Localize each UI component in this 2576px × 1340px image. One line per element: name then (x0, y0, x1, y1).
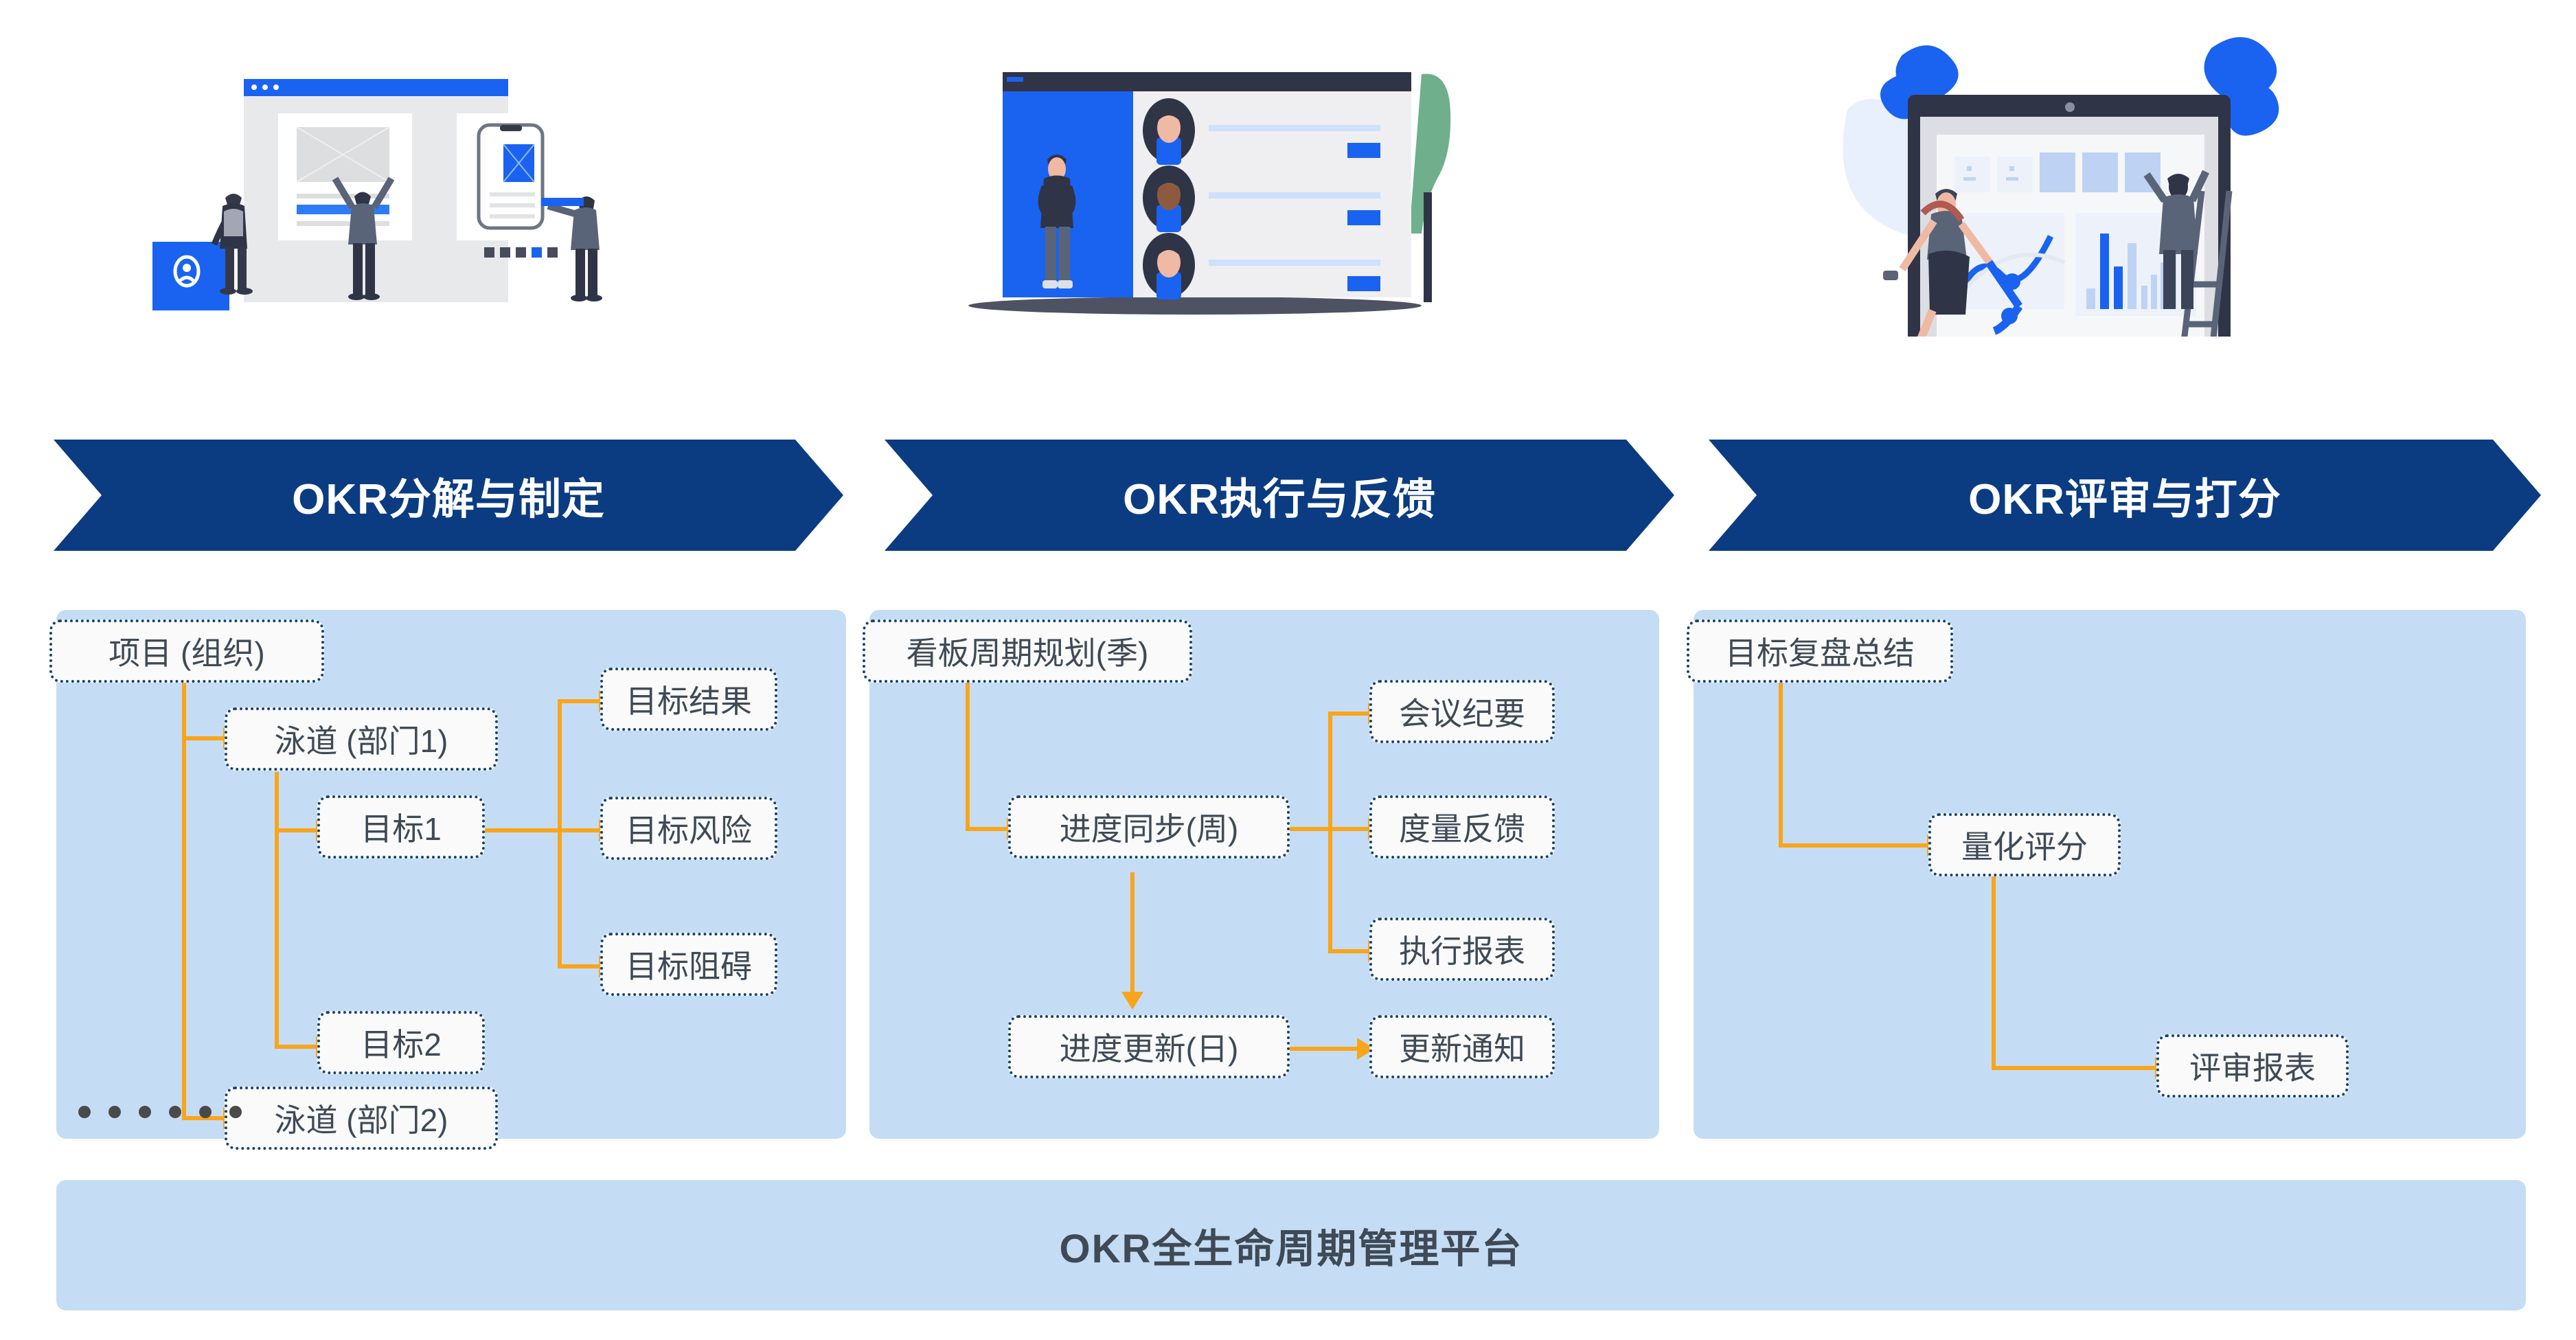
connector-trunk-to-metrics (1328, 827, 1371, 831)
connector-project-trunk (182, 681, 186, 1118)
node-progress-update[interactable]: 进度更新(日) (1008, 1015, 1290, 1078)
connector-trunk-to-result (558, 699, 600, 703)
node-kanban-plan-label: 看板周期规划(季) (907, 628, 1149, 674)
node-goal-1[interactable]: 目标1 (317, 795, 485, 859)
node-goal-2[interactable]: 目标2 (317, 1011, 485, 1074)
connector-score-trunk (1992, 876, 1996, 1070)
connector-update-to-notice (1288, 1047, 1360, 1051)
stage-banner-2[interactable]: OKR执行与反馈 (885, 440, 1674, 551)
node-quantified-score-label: 量化评分 (1961, 822, 2088, 867)
stage-panel-2: 看板周期规划(季) 进度同步(周) 进度更新(日) 会议纪要 度量反馈 执行报表… (869, 610, 1659, 1139)
stage-banner-3-label: OKR评审与打分 (1968, 464, 2281, 526)
node-goal-blocker-label: 目标阻碍 (626, 942, 752, 987)
node-review-report-label: 评审报表 (2189, 1043, 2316, 1089)
node-progress-update-label: 进度更新(日) (1060, 1024, 1239, 1069)
connector-review-trunk (1779, 681, 1783, 846)
connector-goal1-to-trunk (483, 828, 560, 832)
connector-trunk-to-minutes (1328, 712, 1371, 716)
stage-banner-3[interactable]: OKR评审与打分 (1709, 440, 2541, 551)
node-meeting-minutes[interactable]: 会议纪要 (1369, 680, 1555, 743)
node-update-notice-label: 更新通知 (1399, 1024, 1525, 1069)
analytics-monitor-illustration (1820, 7, 2410, 337)
connector-sync-to-update (1130, 872, 1135, 995)
connector-output-trunk (558, 699, 562, 968)
node-goal-1-label: 目标1 (361, 804, 442, 850)
node-goal-result[interactable]: 目标结果 (600, 668, 777, 731)
node-goal-risk-label: 目标风险 (626, 806, 752, 851)
node-goal-risk[interactable]: 目标风险 (600, 797, 777, 860)
diagram-canvas: OKR分解与制定 OKR执行与反馈 OKR评审与打分 项目 (组织) (0, 0, 2576, 1340)
node-goal-blocker[interactable]: 目标阻碍 (600, 933, 777, 996)
platform-footer-bar: OKR全生命周期管理平台 (56, 1180, 2526, 1310)
node-goal-2-label: 目标2 (361, 1020, 442, 1065)
arrow-sync-to-update (1121, 992, 1143, 1010)
stage-banner-1-label: OKR分解与制定 (292, 464, 605, 526)
team-list-dashboard-illustration (927, 34, 1477, 350)
connector-project-to-swimlane1 (182, 736, 225, 740)
connector-sync-to-trunk (1288, 827, 1331, 831)
node-execution-report[interactable]: 执行报表 (1369, 918, 1555, 981)
connector-trunk-to-report (1328, 949, 1371, 953)
node-project-label: 项目 (组织) (109, 628, 264, 674)
node-kanban-plan[interactable]: 看板周期规划(季) (863, 620, 1192, 683)
connector-swimlane1-trunk (275, 772, 279, 1047)
connector-kanban-to-sync (966, 827, 1008, 831)
connector-trunk-to-block (558, 964, 600, 968)
node-meeting-minutes-label: 会议纪要 (1399, 689, 1525, 734)
node-quantified-score[interactable]: 量化评分 (1928, 813, 2121, 876)
node-swimlane-1[interactable]: 泳道 (部门1) (225, 707, 498, 771)
stage-panel-3: 目标复盘总结 量化评分 评审报表 (1694, 610, 2526, 1139)
node-swimlane-1-label: 泳道 (部门1) (275, 716, 448, 762)
node-metric-feedback-label: 度量反馈 (1399, 804, 1525, 850)
node-progress-sync[interactable]: 进度同步(周) (1008, 795, 1290, 859)
stage-panel-1: 项目 (组织) 泳道 (部门1) 目标1 目标2 泳道 (部门2) 目标结果 目… (56, 610, 846, 1139)
connector-swimlane1-to-goal1 (275, 828, 317, 832)
connector-review-to-score (1779, 843, 1928, 848)
connector-swimlane1-to-goal2 (275, 1045, 317, 1049)
node-update-notice[interactable]: 更新通知 (1369, 1015, 1555, 1078)
connector-trunk-to-risk (558, 828, 600, 832)
node-progress-sync-label: 进度同步(周) (1060, 804, 1239, 850)
node-metric-feedback[interactable]: 度量反馈 (1369, 795, 1555, 859)
node-execution-report-label: 执行报表 (1399, 927, 1525, 972)
node-goal-result-label: 目标结果 (626, 677, 752, 722)
node-project[interactable]: 项目 (组织) (49, 620, 324, 683)
node-review-report[interactable]: 评审报表 (2156, 1034, 2349, 1098)
connector-sync-output-trunk (1328, 712, 1332, 953)
ellipsis-indicator (78, 1106, 242, 1118)
node-swimlane-2[interactable]: 泳道 (部门2) (225, 1087, 498, 1150)
node-goal-review-summary-label: 目标复盘总结 (1725, 628, 1915, 674)
platform-footer-label: OKR全生命周期管理平台 (1060, 1216, 1523, 1274)
node-goal-review-summary[interactable]: 目标复盘总结 (1687, 620, 1953, 683)
connector-score-to-report (1992, 1066, 2158, 1070)
node-swimlane-2-label: 泳道 (部门2) (275, 1095, 448, 1141)
connector-kanban-trunk (966, 681, 970, 831)
stage-banner-2-label: OKR执行与反馈 (1123, 464, 1436, 526)
browser-wireframe-illustration (137, 41, 618, 357)
stage-banner-1[interactable]: OKR分解与制定 (54, 440, 843, 551)
